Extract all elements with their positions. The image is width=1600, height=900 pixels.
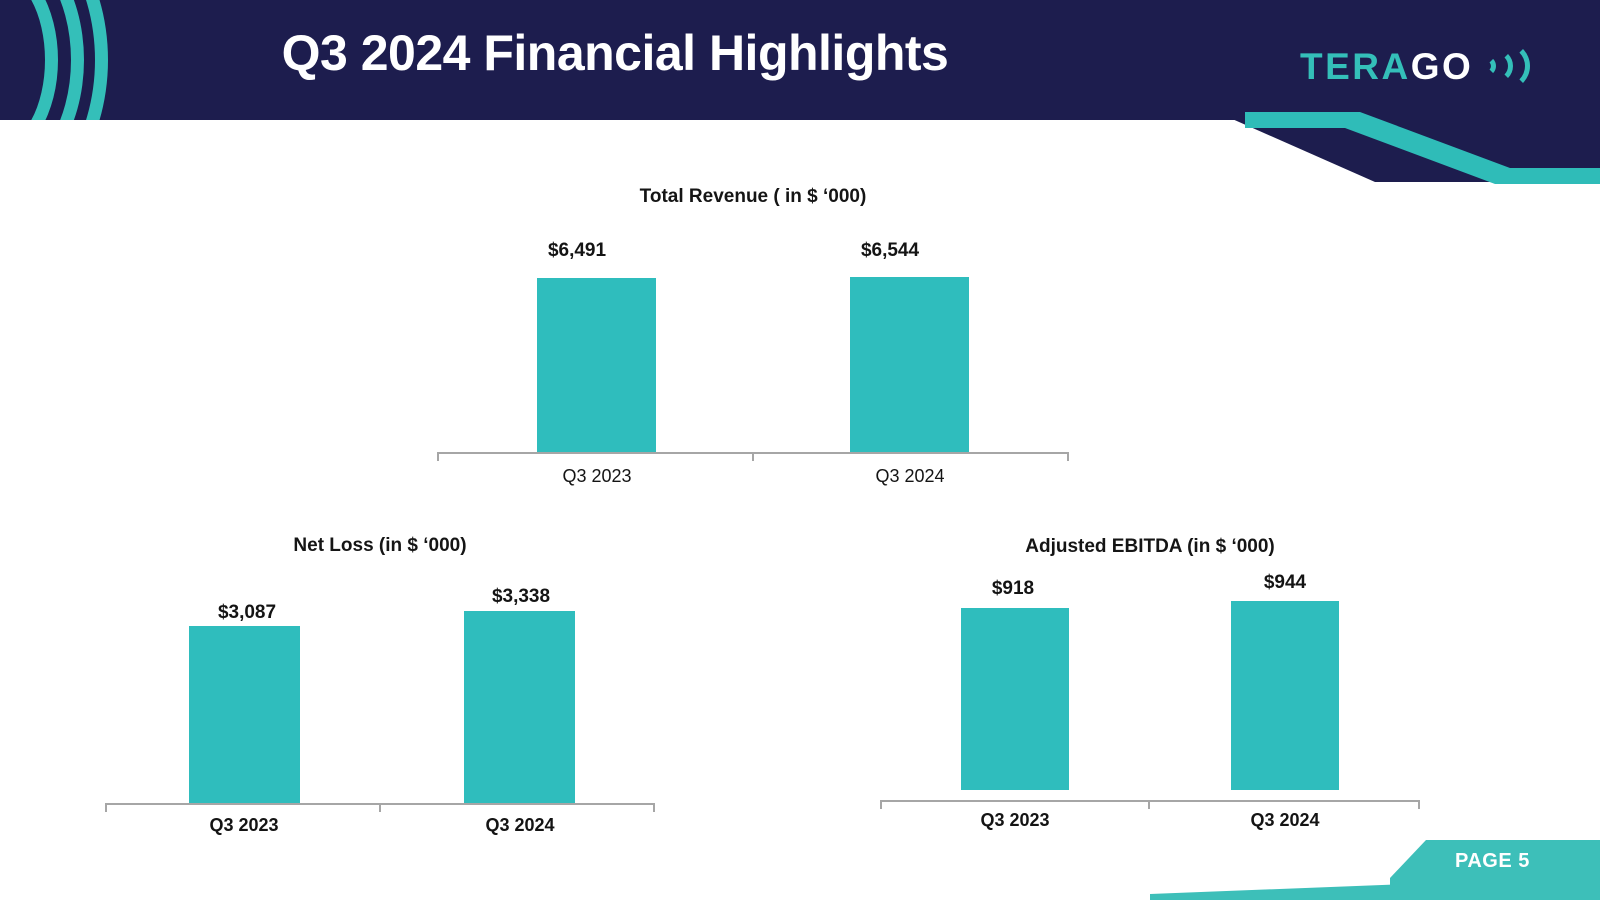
axis-tick-end — [653, 803, 655, 812]
bar-value-label: $6,491 — [477, 240, 677, 262]
chart-net-loss: Net Loss (in $ ‘000) $3,087 $3,338 Q3 20… — [105, 535, 655, 835]
chart-total-revenue: Total Revenue ( in $ ‘000) $6,491 $6,544… — [437, 186, 1069, 486]
category-label-q3-2023: Q3 2023 — [915, 810, 1115, 831]
bar-q3-2024 — [464, 611, 575, 803]
chart-title-total-revenue: Total Revenue ( in $ ‘000) — [437, 186, 1069, 208]
terago-logo: TERA GO — [1300, 44, 1528, 88]
bar-q3-2023 — [537, 278, 656, 452]
chart-title-net-loss: Net Loss (in $ ‘000) — [105, 535, 655, 557]
plot-area-net-loss: $3,087 $3,338 — [105, 591, 655, 803]
logo-text-tera: TERA — [1300, 48, 1411, 85]
logo-text-go: GO — [1411, 48, 1474, 85]
chart-adjusted-ebitda: Adjusted EBITDA (in $ ‘000) $918 $944 Q3… — [880, 536, 1420, 836]
axis-tick-start — [437, 452, 439, 461]
header-right-extension — [1230, 0, 1600, 182]
bar-value-label: $6,544 — [790, 240, 990, 262]
bar-q3-2023 — [961, 608, 1069, 790]
bar-value-label: $944 — [1185, 572, 1385, 594]
axis-tick-mid — [379, 803, 381, 812]
plot-area-total-revenue: $6,491 $6,544 — [437, 240, 1069, 452]
page-title: Q3 2024 Financial Highlights — [0, 24, 1230, 82]
chart-title-adjusted-ebitda: Adjusted EBITDA (in $ ‘000) — [880, 536, 1420, 558]
category-label-q3-2024: Q3 2024 — [810, 466, 1010, 487]
x-axis-line — [880, 800, 1420, 802]
bar-value-label: $3,087 — [147, 602, 347, 624]
axis-tick-mid — [1148, 800, 1150, 809]
category-label-q3-2023: Q3 2023 — [144, 815, 344, 836]
bar-q3-2024 — [1231, 601, 1339, 790]
plot-area-adjusted-ebitda: $918 $944 — [880, 578, 1420, 790]
bar-q3-2024 — [850, 277, 969, 452]
axis-tick-end — [1067, 452, 1069, 461]
bar-q3-2023 — [189, 626, 300, 803]
category-label-q3-2024: Q3 2024 — [1185, 810, 1385, 831]
axis-tick-mid — [752, 452, 754, 461]
bar-value-label: $3,338 — [421, 586, 621, 608]
bar-value-label: $918 — [913, 578, 1113, 600]
slide-canvas: Q3 2024 Financial Highlights TERA GO Tot… — [0, 0, 1600, 900]
axis-tick-end — [1418, 800, 1420, 809]
logo-signal-waves-icon — [1476, 41, 1528, 91]
category-label-q3-2024: Q3 2024 — [420, 815, 620, 836]
axis-tick-start — [105, 803, 107, 812]
page-number-label: PAGE 5 — [1455, 850, 1530, 873]
axis-tick-start — [880, 800, 882, 809]
category-label-q3-2023: Q3 2023 — [497, 466, 697, 487]
